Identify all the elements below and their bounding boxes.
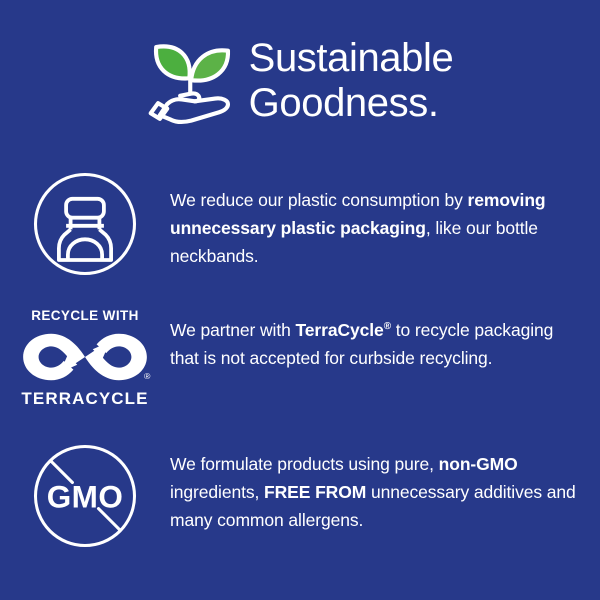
no-gmo-icon: GMO: [31, 442, 139, 550]
text-cell-gmo: We formulate products using pure, non-GM…: [170, 440, 600, 534]
header: Sustainable Goodness.: [0, 22, 600, 137]
gmo-label: GMO: [47, 479, 124, 515]
text-cell-terracycle: We partner with TerraCycle® to recycle p…: [170, 306, 600, 372]
terracycle-registered-mark: ®: [144, 371, 151, 381]
terracycle-logo: RECYCLE WITH ® TERRACYCLE: [14, 308, 156, 409]
feature-text-plastic: We reduce our plastic consumption by rem…: [170, 186, 582, 270]
feature-row-plastic: We reduce our plastic consumption by rem…: [0, 168, 600, 278]
feature-row-terracycle: RECYCLE WITH ® TERRACYCLE We partner wit: [0, 306, 600, 409]
page-title: Sustainable Goodness.: [249, 34, 454, 126]
sustainable-goodness-panel: Sustainable Goodness. We reduce our plas…: [0, 0, 600, 600]
terracycle-top-label: RECYCLE WITH: [31, 308, 139, 324]
icon-cell-plastic: [0, 168, 170, 278]
text-cell-plastic: We reduce our plastic consumption by rem…: [170, 168, 600, 270]
icon-cell-gmo: GMO: [0, 440, 170, 550]
terracycle-bottom-label: TERRACYCLE: [21, 389, 148, 409]
icon-cell-terracycle: RECYCLE WITH ® TERRACYCLE: [0, 306, 170, 409]
feature-text-gmo: We formulate products using pure, non-GM…: [170, 450, 582, 534]
bottle-in-circle-icon: [31, 170, 139, 278]
hand-holding-sprout-icon: [147, 36, 239, 128]
feature-row-gmo: GMO We formulate products using pure, no…: [0, 440, 600, 550]
terracycle-infinity-icon: ®: [16, 328, 154, 386]
feature-text-terracycle: We partner with TerraCycle® to recycle p…: [170, 316, 582, 372]
